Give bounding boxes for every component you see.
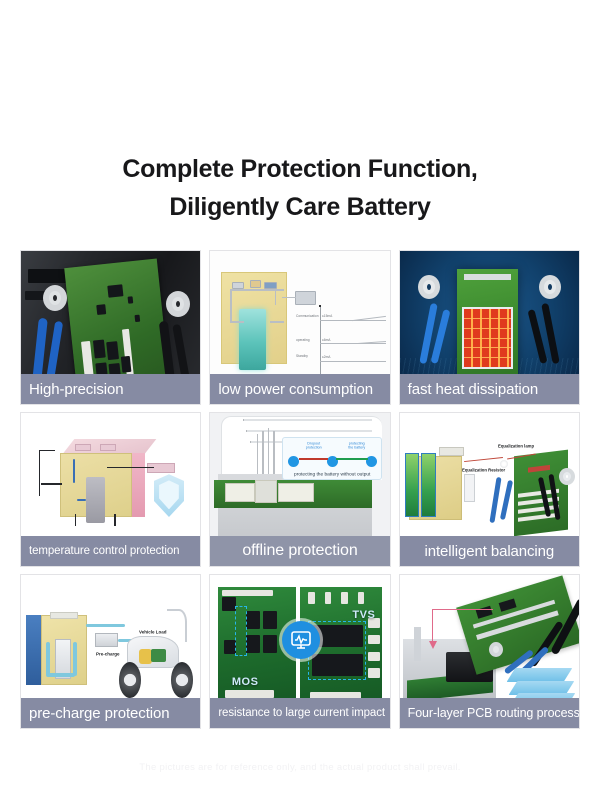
overlay-right-label: protecting the battery — [337, 443, 377, 451]
feature-card-high-precision[interactable]: High-precision — [20, 250, 201, 405]
chart-label-communication: Communication — [296, 315, 319, 319]
feature-card-offline-protection[interactable]: Dropout protection protecting the batter… — [209, 412, 390, 567]
page-title: Complete Protection Function, Diligently… — [0, 150, 600, 226]
label-tvs: TVS — [352, 609, 375, 621]
scooter-illustration — [114, 606, 196, 701]
label-vehicle-load: Vehicle Load — [139, 630, 166, 635]
feature-card-pre-charge-protection[interactable]: Pre-charge Vehicle Load pre-charge prote… — [20, 574, 201, 729]
chart-value-communication: ≤15mA — [322, 315, 332, 319]
offline-protection-overlay: Dropout protection protecting the batter… — [282, 437, 382, 480]
label-equalization-lamp: Equalization lamp — [498, 443, 534, 448]
feature-card-resistance-to-large-current-impact[interactable]: MOS TVS resistance to large current impa… — [209, 574, 390, 729]
caption-four-layer-pcb-routing-process: Four-layer PCB routing process — [400, 698, 579, 728]
label-mos: MOS — [232, 676, 259, 688]
process-arrow-icon — [432, 609, 493, 643]
chart-value-standby: ≤2mA — [322, 355, 330, 359]
caption-intelligent-balancing: intelligent balancing — [400, 536, 579, 566]
chart-label-standby: Standby — [296, 355, 308, 359]
overlay-left-label: Dropout protection — [293, 443, 333, 451]
chart-label-operating: operating — [296, 338, 310, 342]
page-title-line-2: Diligently Care Battery — [0, 188, 600, 226]
caption-fast-heat-dissipation: fast heat dissipation — [400, 374, 579, 404]
feature-card-fast-heat-dissipation[interactable]: fast heat dissipation — [399, 250, 580, 405]
chart-value-operating: ≤6mA — [322, 339, 330, 343]
caption-resistance-to-large-current-impact: resistance to large current impact — [210, 698, 389, 728]
feature-grid: High-precision — [20, 250, 580, 729]
caption-temperature-control-protection: temperature control protection — [21, 536, 200, 566]
caption-pre-charge-protection: pre-charge protection — [21, 698, 200, 728]
label-equalization-resistor: Equalization Resistor — [462, 468, 505, 473]
overlay-bottom-label: protecting the battery without output — [273, 470, 389, 476]
caption-offline-protection: offline protection — [210, 536, 389, 566]
feature-card-intelligent-balancing[interactable]: Equalization lamp Equalization Resistor … — [399, 412, 580, 567]
footer-disclaimer: The pictures are for reference only, and… — [0, 762, 600, 773]
caption-high-precision: High-precision — [21, 374, 200, 404]
feature-card-four-layer-pcb-routing-process[interactable]: Four-layer PCB routing process — [399, 574, 580, 729]
caption-low-power-consumption: low power consumption — [210, 374, 389, 404]
power-consumption-chart: Communication ≤15mA operating ≤6mA Stand… — [296, 306, 386, 378]
page-title-line-1: Complete Protection Function, — [0, 150, 600, 188]
waveform-monitor-icon — [282, 621, 320, 659]
product-feature-page: Complete Protection Function, Diligently… — [0, 0, 600, 800]
feature-card-low-power-consumption[interactable]: Communication ≤15mA operating ≤6mA Stand… — [209, 250, 390, 405]
feature-card-temperature-control-protection[interactable]: temperature control protection — [20, 412, 201, 567]
